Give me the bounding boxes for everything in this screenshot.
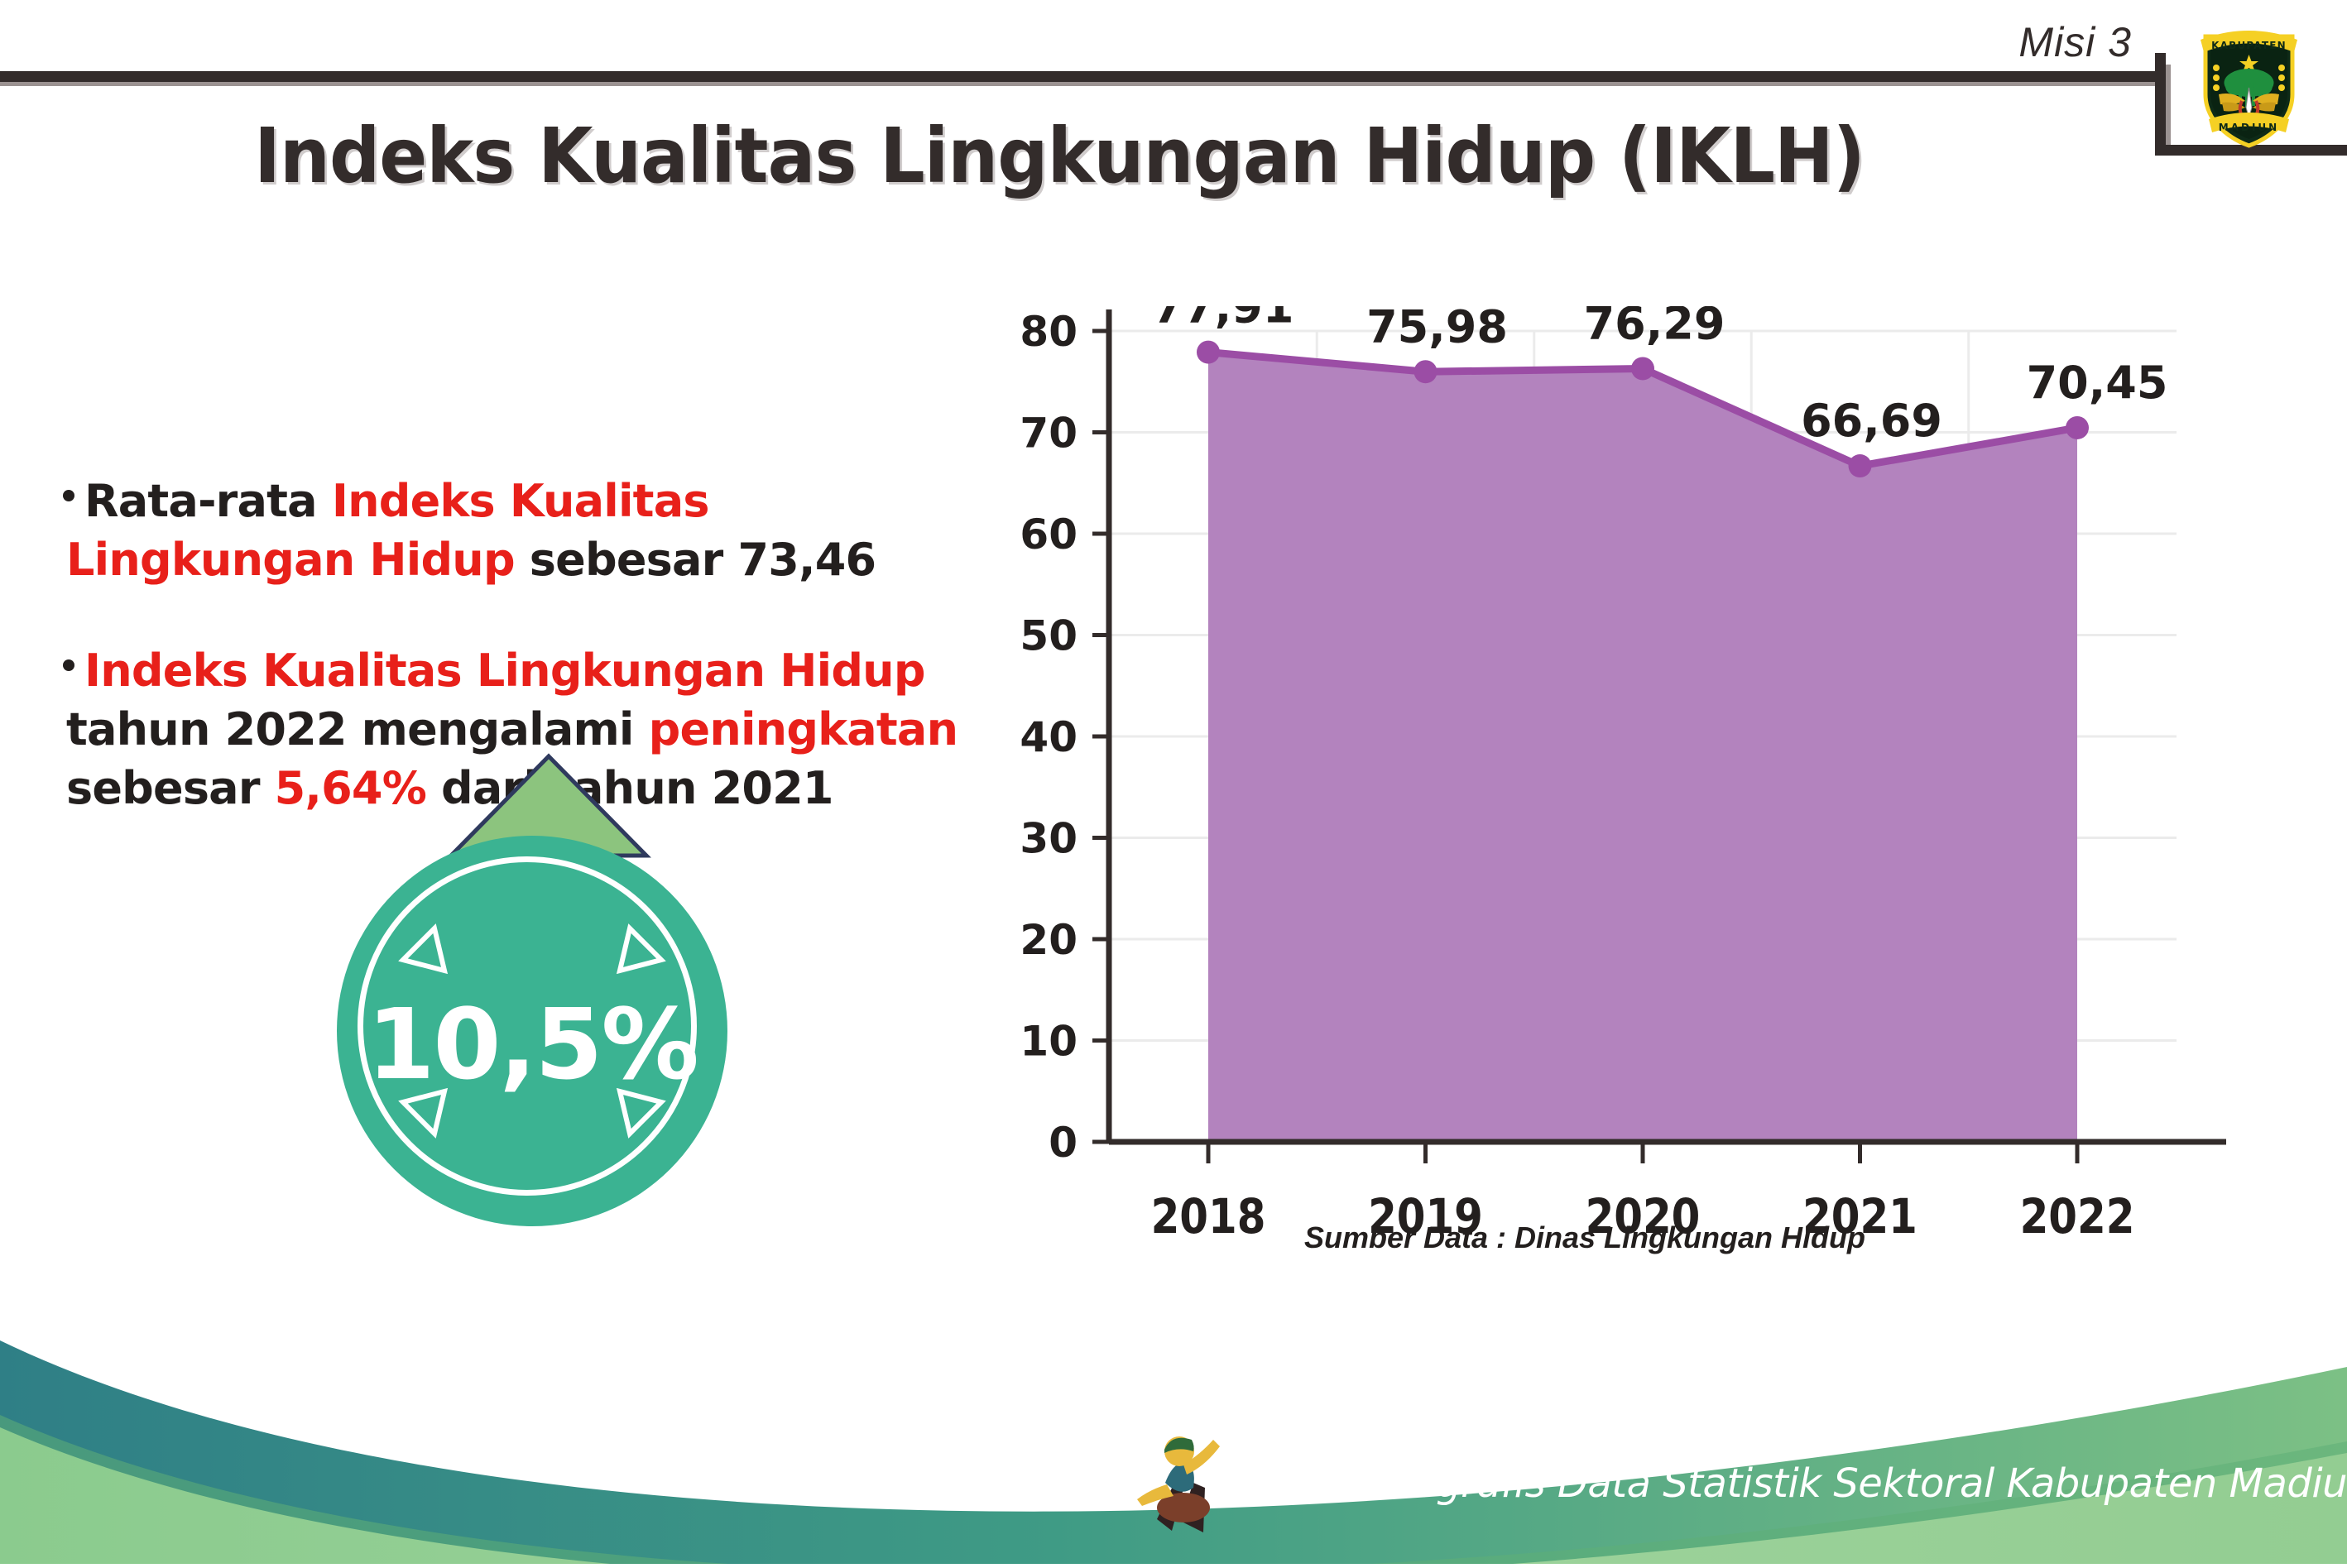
data-point	[1197, 341, 1220, 364]
data-point	[2066, 416, 2089, 439]
y-tick-label: 20	[1020, 916, 1078, 964]
header-corner-shadow	[2166, 65, 2171, 156]
data-point	[1631, 357, 1654, 380]
coat-of-arms-icon: KABUPATEN MADIUN	[2189, 15, 2309, 151]
svg-text:MADIUN: MADIUN	[2219, 122, 2279, 133]
badge-value: 10,5%	[337, 987, 727, 1101]
chart-source-caption: Sumber Data : Dinas Lingkungan Hidup	[1043, 1220, 2127, 1255]
svg-text:KABUPATEN: KABUPATEN	[2211, 40, 2287, 51]
data-value-label: 75,98	[1366, 306, 1508, 352]
highlighted-phrase: Indeks Kualitas Lingkungan Hidup	[84, 645, 925, 697]
data-point	[1849, 454, 1872, 477]
footer-caption: Media Infografis Data Statistik Sektoral…	[1233, 1460, 2347, 1507]
plain-phrase: sebesar 73,46	[515, 534, 876, 586]
chart-canvas: 01020304050607080 20182019202020212022 7…	[952, 306, 2243, 1283]
header-rule-shadow	[0, 82, 2162, 86]
y-tick-label: 30	[1020, 815, 1078, 863]
bullet-marker-icon	[63, 490, 74, 501]
data-value-label: 76,29	[1584, 306, 1725, 349]
data-value-label: 77,91	[1153, 306, 1294, 333]
plain-phrase: sebesar	[66, 762, 275, 814]
y-tick-label: 40	[1020, 713, 1078, 761]
kabupaten-madiun-logo: KABUPATEN MADIUN	[2189, 15, 2309, 151]
area-fill	[1208, 352, 2077, 1142]
y-tick-label: 60	[1020, 511, 1078, 559]
y-tick-label: 70	[1020, 410, 1078, 458]
y-tick-label: 80	[1020, 308, 1078, 356]
data-point	[1414, 360, 1437, 383]
plain-phrase: tahun 2022 mengalami	[66, 703, 649, 755]
bullet-marker-icon	[63, 659, 74, 671]
pencak-silat-figure-icon	[1132, 1422, 1230, 1542]
page-title: Indeks Kualitas Lingkungan Hidup (IKLH)	[74, 112, 2045, 200]
data-value-label: 70,45	[2027, 357, 2168, 409]
y-tick-label: 10	[1020, 1018, 1078, 1066]
y-axis-tick-labels: 01020304050607080	[1020, 308, 1078, 1167]
header-rule	[0, 71, 2162, 82]
increase-badge: 10,5%	[323, 753, 761, 1216]
y-tick-label: 0	[1049, 1119, 1078, 1167]
header-corner-vertical-rule	[2155, 53, 2166, 156]
mission-label: Misi 3	[2018, 18, 2132, 66]
bullet-text: Rata-rata Indeks Kualitas Lingkungan Hid…	[66, 475, 876, 586]
plain-phrase: Rata-rata	[84, 475, 332, 527]
bullet-item: Rata-rata Indeks Kualitas Lingkungan Hid…	[66, 472, 993, 590]
iklh-area-chart: 01020304050607080 20182019202020212022 7…	[952, 306, 2243, 1283]
data-value-label: 66,69	[1801, 395, 1942, 447]
highlighted-phrase: peningkatan	[649, 703, 958, 755]
y-tick-label: 50	[1020, 612, 1078, 660]
